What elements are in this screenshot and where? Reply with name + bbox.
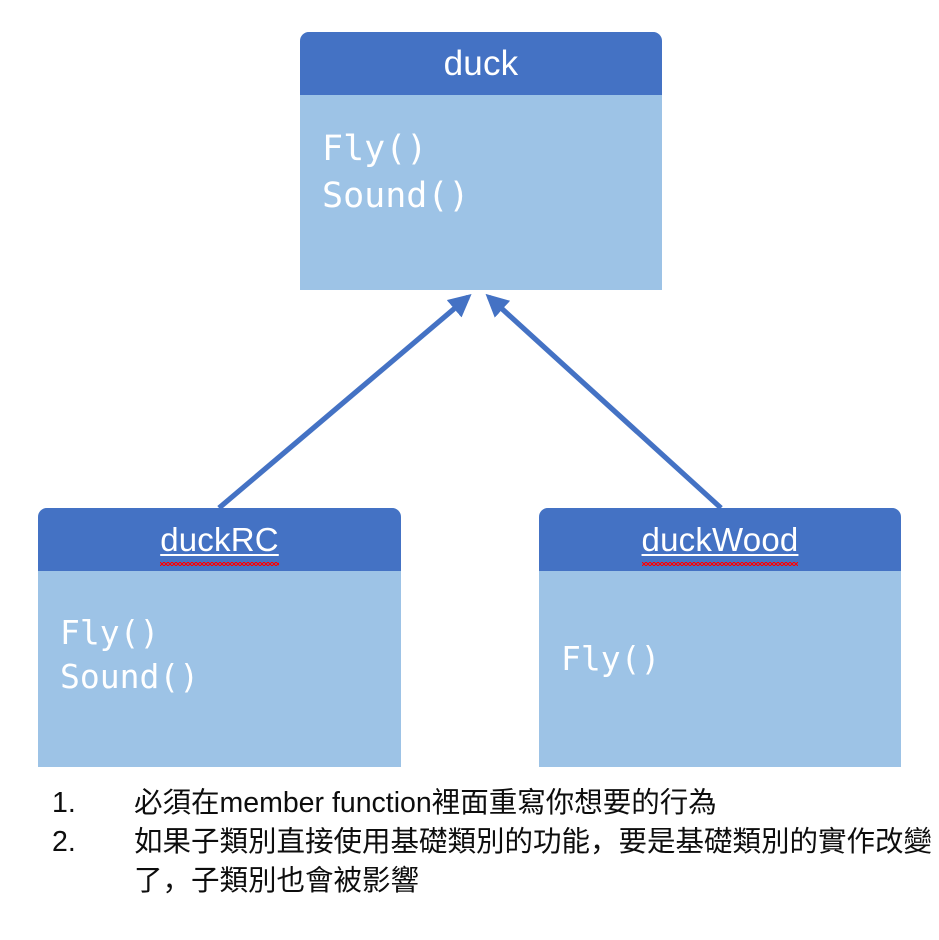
arrow-duckwood-to-duck — [489, 297, 721, 508]
class-title-duckrc: duckRC — [160, 521, 279, 559]
note-marker: 2. — [52, 823, 134, 862]
class-box-duckrc[interactable]: duckRC Fly() Sound() — [38, 508, 401, 767]
class-header-duck: duck — [300, 32, 662, 95]
slide-canvas: duck Fly() Sound() duckRC Fly() Sound() … — [0, 0, 939, 940]
class-title-duck: duck — [444, 44, 519, 84]
class-title-duckwood: duckWood — [642, 521, 799, 559]
arrow-duckrc-to-duck — [219, 297, 468, 508]
class-methods-duck: Fly() Sound() — [300, 95, 662, 219]
note-item: 1. 必須在member function裡面重寫你想要的行為 — [52, 784, 932, 823]
notes-list: 1. 必須在member function裡面重寫你想要的行為 2. 如果子類別… — [52, 784, 932, 901]
class-methods-duckwood: Fly() — [539, 571, 901, 681]
class-methods-duckrc: Fly() Sound() — [38, 571, 401, 699]
note-text: 必須在member function裡面重寫你想要的行為 — [134, 784, 932, 823]
class-box-duckwood[interactable]: duckWood Fly() — [539, 508, 901, 767]
class-header-duckwood: duckWood — [539, 508, 901, 571]
class-box-duck[interactable]: duck Fly() Sound() — [300, 32, 662, 290]
class-header-duckrc: duckRC — [38, 508, 401, 571]
note-item: 2. 如果子類別直接使用基礎類別的功能，要是基礎類別的實作改變了，子類別也會被影… — [52, 823, 932, 901]
note-text: 如果子類別直接使用基礎類別的功能，要是基礎類別的實作改變了，子類別也會被影響 — [134, 823, 932, 901]
note-marker: 1. — [52, 784, 134, 823]
